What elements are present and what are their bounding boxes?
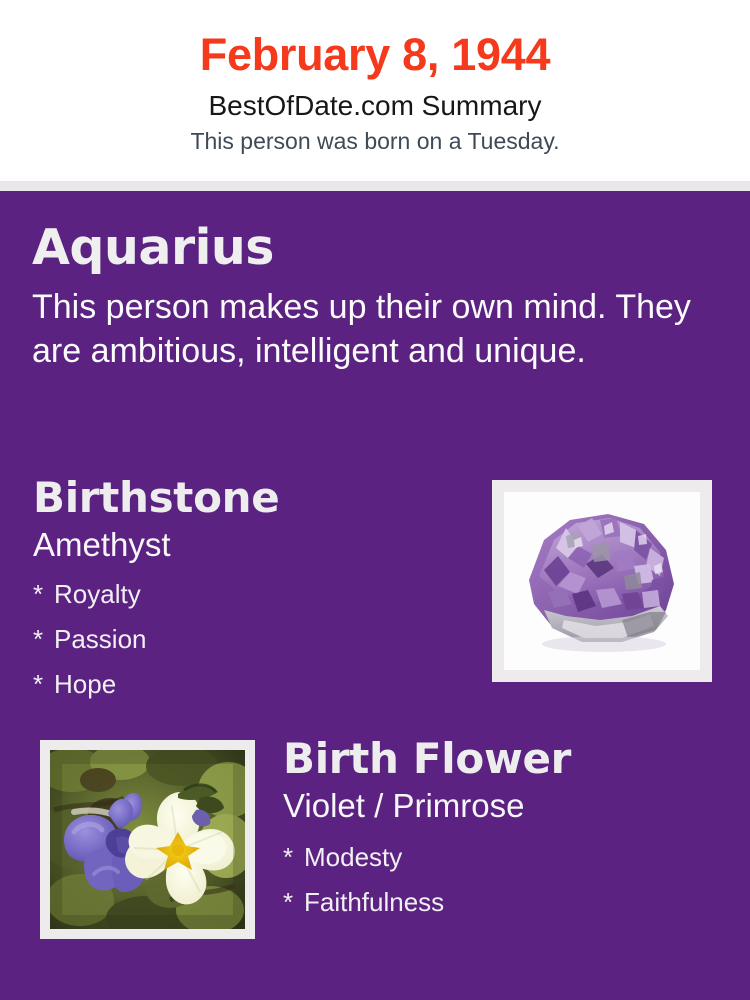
birthflower-name: Violet / Primrose <box>283 784 723 826</box>
header-divider <box>0 181 750 191</box>
birthflower-photo-frame <box>40 740 255 939</box>
site-subtitle: BestOfDate.com Summary <box>0 83 750 123</box>
list-item: *Passion <box>33 617 463 662</box>
summary-card: February 8, 1944 BestOfDate.com Summary … <box>0 0 750 1000</box>
amethyst-crystal-icon <box>504 492 700 670</box>
zodiac-description: This person makes up their own mind. The… <box>32 276 692 373</box>
zodiac-sign-title: Aquarius <box>32 220 692 276</box>
bullet-marker: * <box>33 572 54 617</box>
page-title: February 8, 1944 <box>0 0 750 83</box>
birthstone-section: Birthstone Amethyst *Royalty *Passion *H… <box>33 473 463 707</box>
list-item: *Hope <box>33 662 463 707</box>
birthstone-title: Birthstone <box>33 473 463 523</box>
birth-day-note: This person was born on a Tuesday. <box>0 123 750 156</box>
zodiac-section: Aquarius This person makes up their own … <box>32 220 692 373</box>
trait-label: Hope <box>54 669 116 699</box>
trait-label: Faithfulness <box>304 887 444 917</box>
birthflower-section: Birth Flower Violet / Primrose *Modesty … <box>283 734 723 925</box>
bullet-marker: * <box>33 617 54 662</box>
birthflower-trait-list: *Modesty *Faithfulness <box>283 826 723 925</box>
birthstone-trait-list: *Royalty *Passion *Hope <box>33 565 463 707</box>
card-header: February 8, 1944 BestOfDate.com Summary … <box>0 0 750 181</box>
content-panel: Aquarius This person makes up their own … <box>0 191 750 1000</box>
list-item: *Royalty <box>33 572 463 617</box>
birthstone-photo-frame <box>492 480 712 682</box>
violet-primrose-flower-icon <box>50 750 245 929</box>
birthstone-photo <box>504 492 700 670</box>
trait-label: Modesty <box>304 842 402 872</box>
trait-label: Passion <box>54 624 147 654</box>
birthstone-name: Amethyst <box>33 523 463 565</box>
birthflower-photo <box>50 750 245 929</box>
bullet-marker: * <box>283 880 304 925</box>
list-item: *Faithfulness <box>283 880 723 925</box>
list-item: *Modesty <box>283 835 723 880</box>
bullet-marker: * <box>33 662 54 707</box>
birthflower-title: Birth Flower <box>283 734 723 784</box>
bullet-marker: * <box>283 835 304 880</box>
trait-label: Royalty <box>54 579 141 609</box>
